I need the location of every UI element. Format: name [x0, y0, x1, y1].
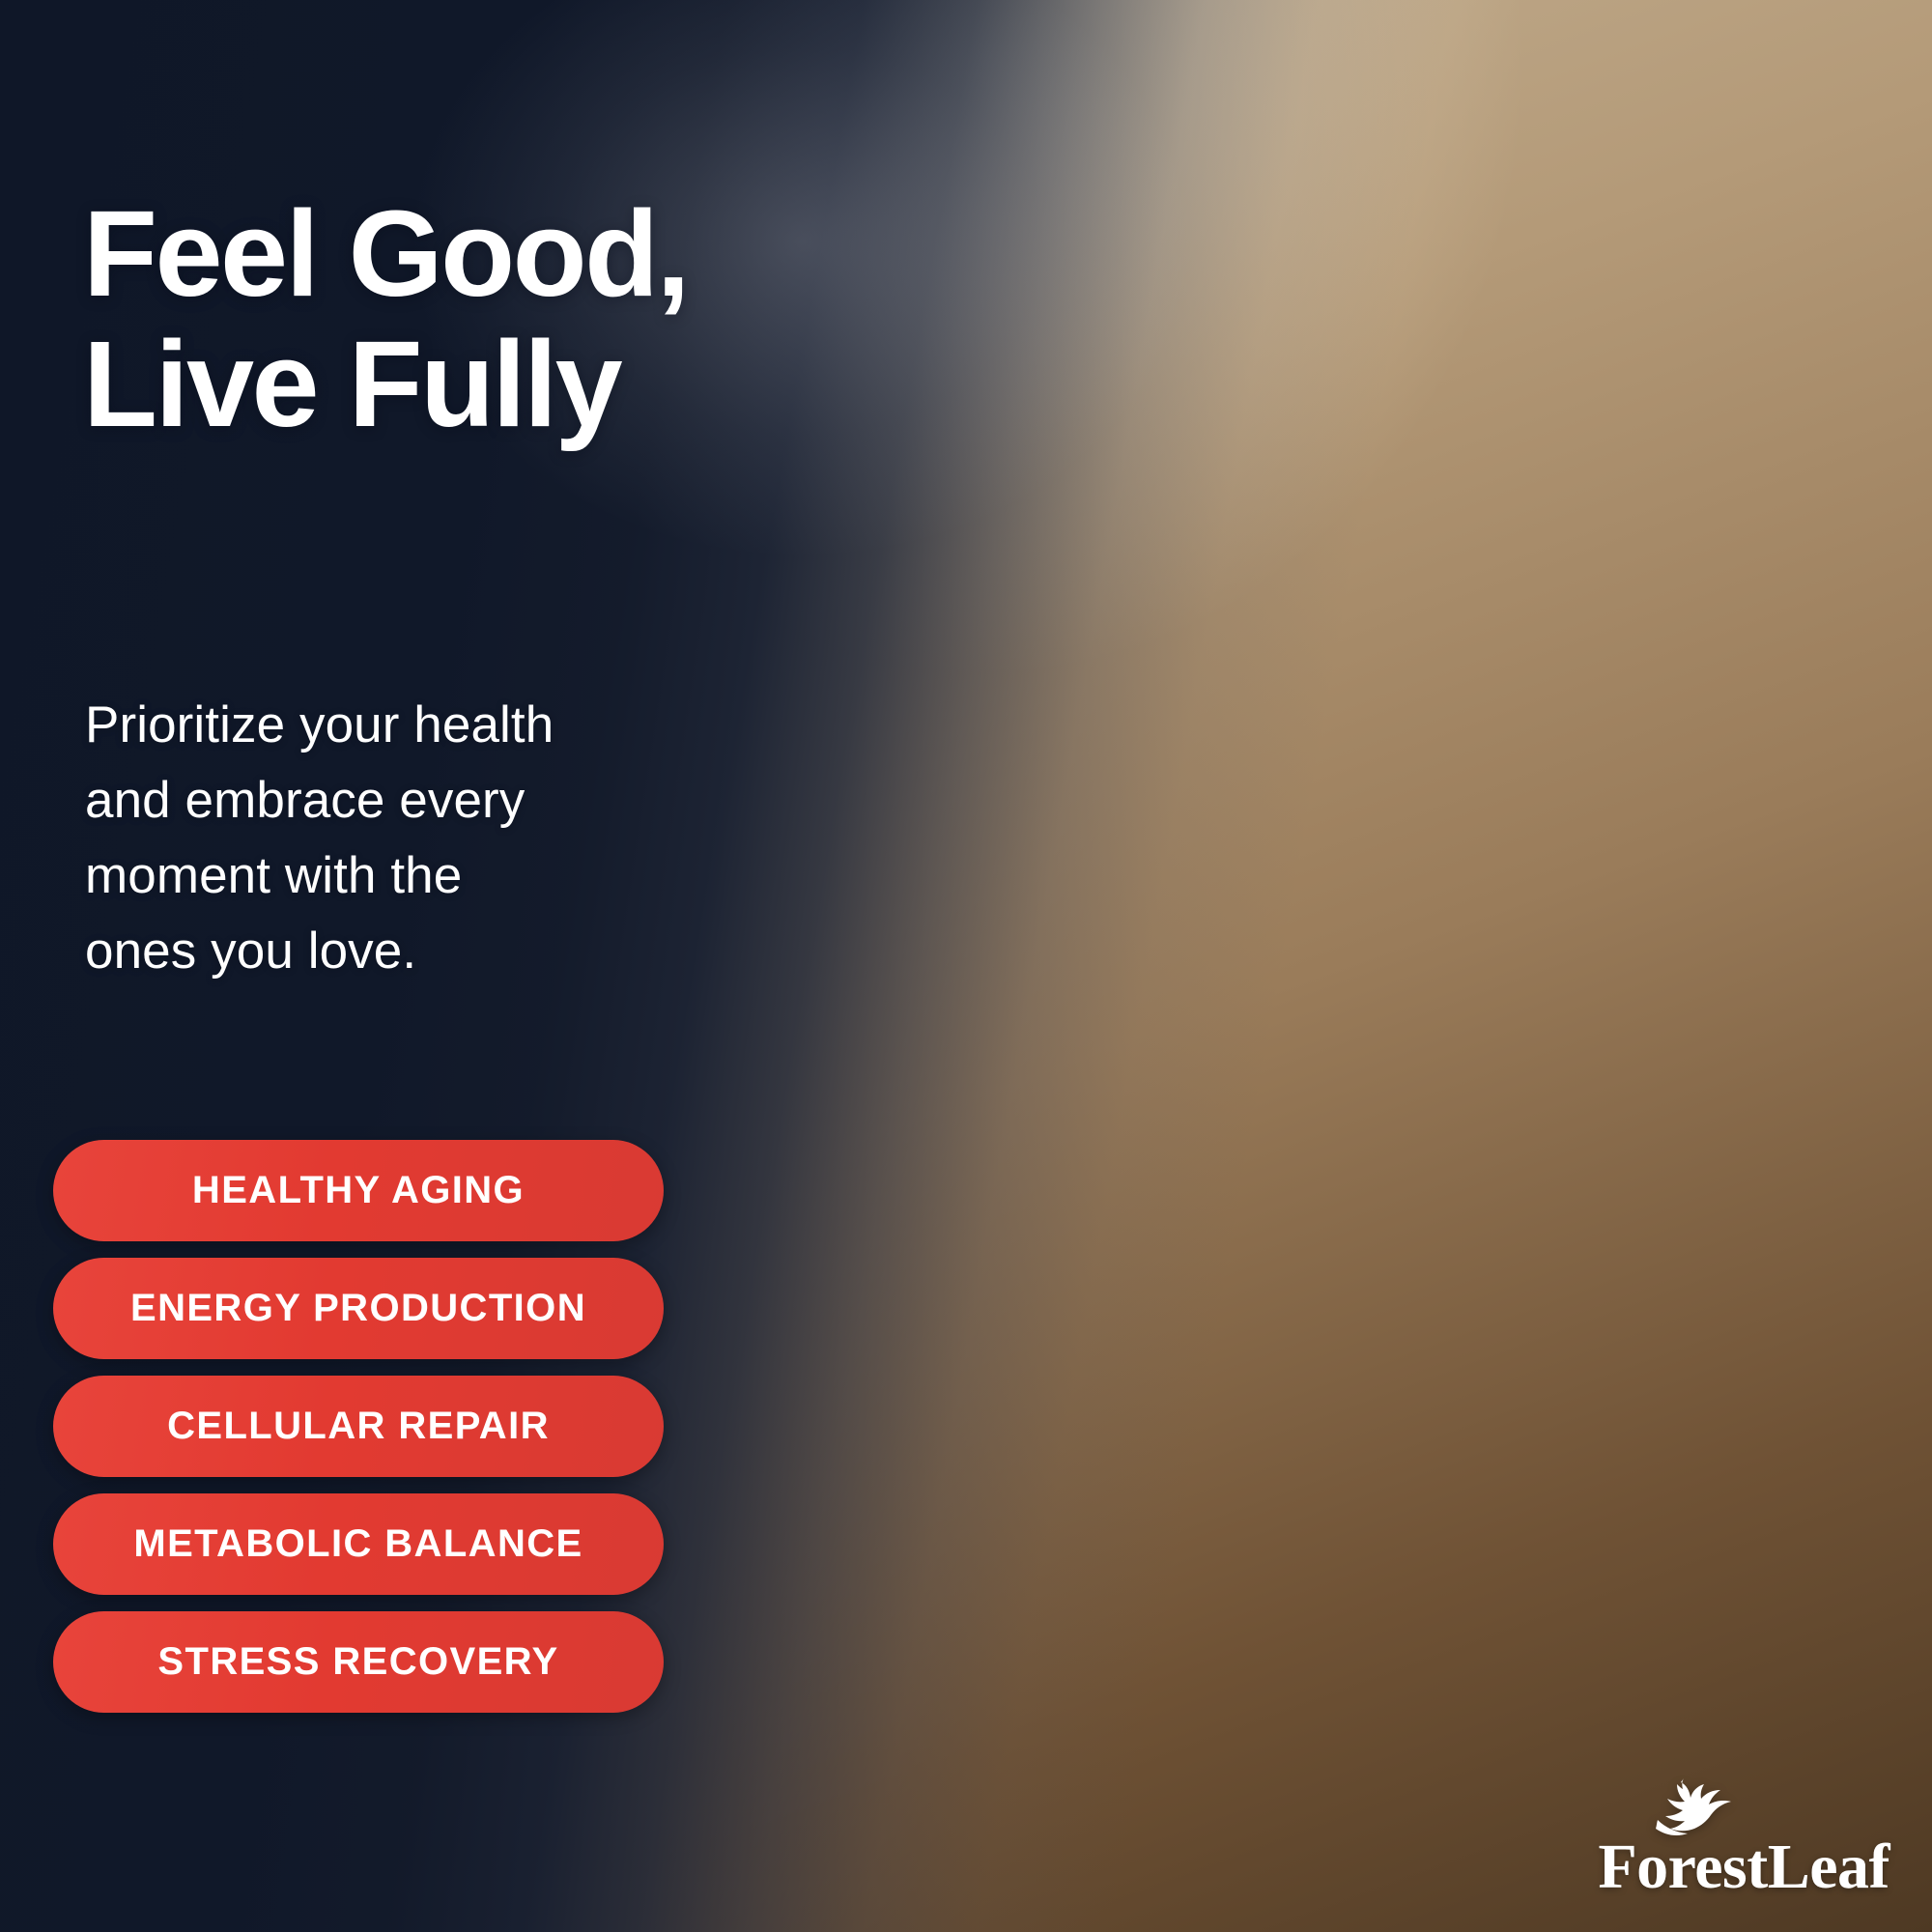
- benefit-pill-label: METABOLIC BALANCE: [133, 1522, 582, 1566]
- benefit-pill-list: HEALTHY AGING ENERGY PRODUCTION CELLULAR…: [53, 1140, 664, 1713]
- benefit-pill-label: HEALTHY AGING: [192, 1169, 525, 1212]
- headline: Feel Good, Live Fully: [83, 189, 1049, 450]
- banner-content: Feel Good, Live Fully Prioritize your he…: [0, 0, 1932, 1932]
- benefit-pill[interactable]: CELLULAR REPAIR: [53, 1376, 664, 1477]
- benefit-pill[interactable]: STRESS RECOVERY: [53, 1611, 664, 1713]
- benefit-pill-label: STRESS RECOVERY: [157, 1640, 558, 1684]
- benefit-pill[interactable]: ENERGY PRODUCTION: [53, 1258, 664, 1359]
- benefit-pill[interactable]: HEALTHY AGING: [53, 1140, 664, 1241]
- benefit-pill-label: CELLULAR REPAIR: [167, 1405, 550, 1448]
- promo-banner: Feel Good, Live Fully Prioritize your he…: [0, 0, 1932, 1932]
- brand-name: ForestLeaf: [1598, 1835, 1889, 1899]
- benefit-pill-label: ENERGY PRODUCTION: [130, 1287, 586, 1330]
- subheading: Prioritize your health and embrace every…: [85, 688, 626, 989]
- brand-logo[interactable]: ForestLeaf: [1598, 1777, 1889, 1899]
- benefit-pill[interactable]: METABOLIC BALANCE: [53, 1493, 664, 1595]
- leaf-feather-icon: [1652, 1777, 1752, 1841]
